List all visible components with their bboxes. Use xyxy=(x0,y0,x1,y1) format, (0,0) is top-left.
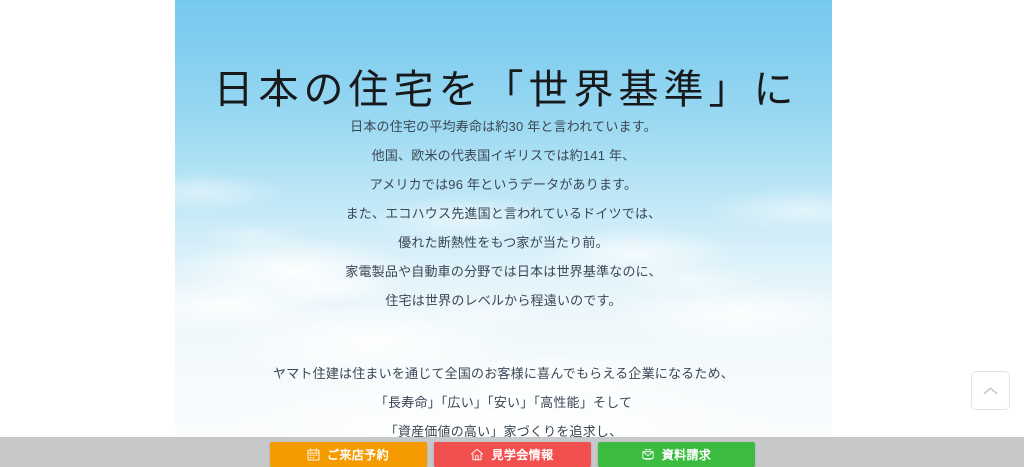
hero-line: ヤマト住建は住まいを通じて全国のお客様に喜んでもらえる企業になるため、 xyxy=(175,359,832,388)
request-documents-label: 資料請求 xyxy=(662,446,712,463)
calendar-icon xyxy=(307,448,320,461)
event-info-button[interactable]: 見学会情報 xyxy=(434,442,591,467)
request-documents-button[interactable]: 資料請求 xyxy=(598,442,755,467)
reserve-visit-label: ご来店予約 xyxy=(327,446,389,463)
hero-content: 日本の住宅を「世界基準」に 日本の住宅の平均寿命は約30 年と言われています。 … xyxy=(175,0,832,437)
hero-sky-section: 日本の住宅を「世界基準」に 日本の住宅の平均寿命は約30 年と言われています。 … xyxy=(175,0,832,437)
hero-line: 住宅は世界のレベルから程遠いのです。 xyxy=(175,286,832,315)
scroll-to-top-button[interactable] xyxy=(971,371,1010,410)
hero-line: 「長寿命」「広い」「安い」「高性能」そして xyxy=(175,388,832,417)
hero-body-copy: 日本の住宅の平均寿命は約30 年と言われています。 他国、欧米の代表国イギリスで… xyxy=(175,112,832,437)
hero-line: 他国、欧米の代表国イギリスでは約141 年、 xyxy=(175,141,832,170)
bottom-cta-bar: ご来店予約 見学会情報 xyxy=(0,437,1024,467)
house-icon xyxy=(470,448,484,461)
reserve-visit-button[interactable]: ご来店予約 xyxy=(270,442,427,467)
page-title: 日本の住宅を「世界基準」に xyxy=(175,64,832,116)
hero-line: 「資産価値の高い」家づくりを追求し、 xyxy=(175,417,832,437)
hero-line: 優れた断熱性をもつ家が当たり前。 xyxy=(175,228,832,257)
bottom-cta-bar-inner: ご来店予約 見学会情報 xyxy=(0,437,1024,467)
hero-line: 日本の住宅の平均寿命は約30 年と言われています。 xyxy=(175,112,832,141)
event-info-label: 見学会情報 xyxy=(491,446,553,463)
chevron-up-icon xyxy=(983,386,998,396)
hero-line: アメリカでは96 年というデータがあります。 xyxy=(175,170,832,199)
paragraph-spacer xyxy=(175,315,832,359)
left-margin xyxy=(0,0,175,437)
hero-line: 家電製品や自動車の分野では日本は世界基準なのに、 xyxy=(175,257,832,286)
hero-line: また、エコハウス先進国と言われているドイツでは、 xyxy=(175,199,832,228)
page-root: 日本の住宅を「世界基準」に 日本の住宅の平均寿命は約30 年と言われています。 … xyxy=(0,0,1024,467)
mailbox-icon xyxy=(641,448,655,461)
